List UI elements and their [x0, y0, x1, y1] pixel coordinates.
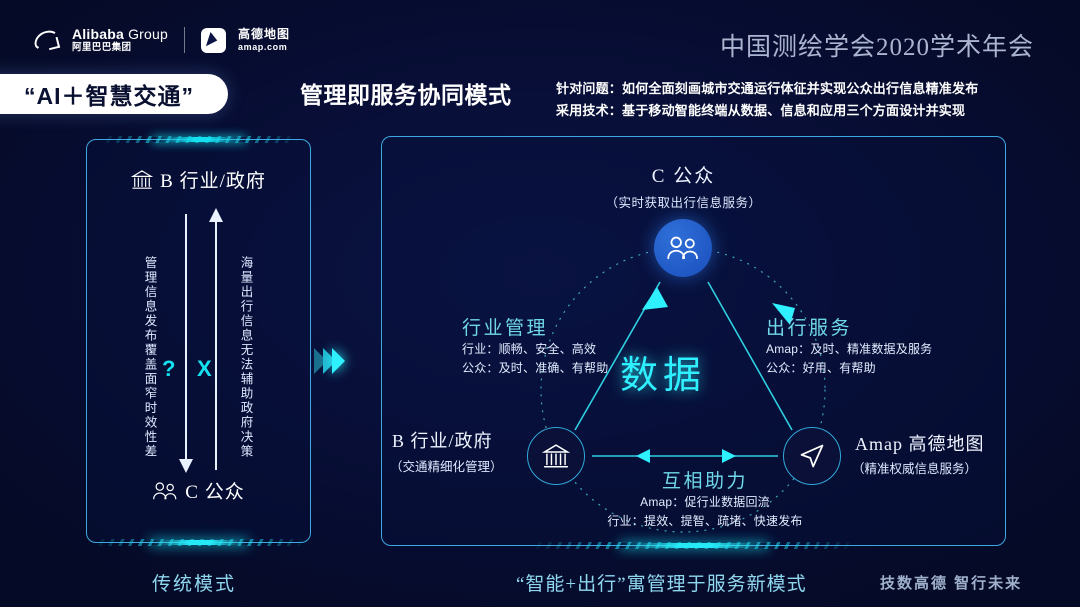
slide-canvas: Alibaba Group 阿里巴巴集团 高德地图 amap.com 中国测绘学…: [0, 0, 1080, 607]
group-service-line-1: Amap：及时、精准数据及服务: [766, 340, 932, 359]
footer-slogan: 技数高德 智行未来: [880, 572, 1022, 593]
node-c-circle[interactable]: [654, 219, 712, 277]
group-mgmt-title: 行业管理: [462, 313, 608, 340]
node-amap-title: Amap 高德地图: [855, 430, 985, 456]
node-c-sub: （实时获取出行信息服务）: [566, 192, 801, 211]
bank-icon: [542, 444, 570, 469]
node-b-circle[interactable]: [527, 427, 585, 485]
group-mgmt-line-1: 行业：顺畅、安全、高效: [462, 340, 608, 359]
group-mutual-assist: 互相助力 Amap：促行业数据回流 行业：提效、提智、疏堵、快速发布: [600, 466, 810, 531]
group-travel-service: 出行服务 Amap：及时、精准数据及服务 公众：好用、有帮助: [766, 313, 932, 378]
group-industry-management: 行业管理 行业：顺畅、安全、高效 公众：及时、准确、有帮助: [462, 313, 608, 378]
group-mutual-line-1: Amap：促行业数据回流: [600, 493, 810, 512]
group-service-line-2: 公众：好用、有帮助: [766, 359, 932, 378]
group-mutual-line-2: 行业：提效、提智、疏堵、快速发布: [600, 512, 810, 531]
group-mutual-title: 互相助力: [600, 466, 810, 493]
node-amap-sub: （精准权威信息服务）: [852, 458, 977, 477]
node-b-title: B 行业/政府: [392, 427, 493, 453]
people-icon: [666, 235, 700, 261]
group-service-title: 出行服务: [766, 313, 932, 340]
left-panel-caption: 传统模式: [152, 569, 236, 596]
center-data-label: 数据: [620, 344, 706, 399]
node-c-title: C 公众: [596, 161, 771, 188]
node-b-sub: （交通精细化管理）: [390, 456, 503, 475]
collaboration-triangle: C 公众 （实时获取出行信息服务） B 行业/政府 （交通精细化管理） Amap…: [0, 0, 1080, 607]
right-panel-caption: “智能+出行”寓管理于服务新模式: [516, 569, 807, 596]
group-mgmt-line-2: 公众：及时、准确、有帮助: [462, 359, 608, 378]
